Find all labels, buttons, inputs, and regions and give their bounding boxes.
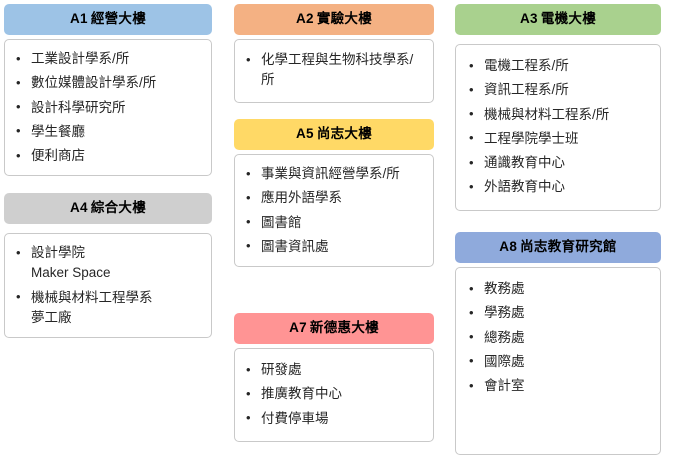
building-item-list-a3: 電機工程系/所 資訊工程系/所 機械與材料工程系/所 工程學院學士班 通識教育中… xyxy=(462,56,654,198)
list-item-label: 國際處 xyxy=(484,354,525,369)
list-item-label: 便利商店 xyxy=(31,148,85,163)
list-item[interactable]: 學務處 xyxy=(462,303,654,323)
building-header-a7: A7新德惠大樓 xyxy=(234,313,434,344)
building-card-a4[interactable]: A4綜合大樓 設計學院 Maker Space 機械與材料工程學系 夢工廠 xyxy=(4,193,212,338)
building-card-a8[interactable]: A8尚志教育研究館 教務處 學務處 總務處 國際處 會計室 xyxy=(455,232,661,455)
building-card-a7[interactable]: A7新德惠大樓 研發處 推廣教育中心 付費停車場 xyxy=(234,313,434,442)
list-item[interactable]: 設計學院 Maker Space xyxy=(9,243,203,284)
building-name-a7: 新德惠大樓 xyxy=(310,320,379,335)
list-item-label: 資訊工程系/所 xyxy=(484,82,569,97)
list-item[interactable]: 機械與材料工程學系 夢工廠 xyxy=(9,288,203,329)
building-item-list-a5: 事業與資訊經營學系/所 應用外語學系 圖書館 圖書資訊處 xyxy=(239,164,425,257)
list-item-label: 工程學院學士班 xyxy=(484,131,579,146)
building-body-a4: 設計學院 Maker Space 機械與材料工程學系 夢工廠 xyxy=(4,233,212,338)
building-body-a5: 事業與資訊經營學系/所 應用外語學系 圖書館 圖書資訊處 xyxy=(234,154,434,267)
building-body-a1: 工業設計學系/所 數位媒體設計學系/所 設計科學研究所 學生餐廳 便利商店 xyxy=(4,39,212,176)
list-item-label: 總務處 xyxy=(484,330,525,345)
building-body-a8: 教務處 學務處 總務處 國際處 會計室 xyxy=(455,267,661,455)
list-item-label: 教務處 xyxy=(484,281,525,296)
list-item[interactable]: 圖書館 xyxy=(239,213,425,233)
list-item[interactable]: 教務處 xyxy=(462,279,654,299)
list-item-label: 推廣教育中心 xyxy=(261,386,342,401)
building-item-list-a4: 設計學院 Maker Space 機械與材料工程學系 夢工廠 xyxy=(9,243,203,328)
list-item-label: 化學工程與生物科技學系/所 xyxy=(261,52,413,87)
list-item[interactable]: 研發處 xyxy=(239,360,425,380)
list-item-sublabel: 夢工廠 xyxy=(31,308,203,328)
building-item-list-a8: 教務處 學務處 總務處 國際處 會計室 xyxy=(462,279,654,396)
list-item-label: 工業設計學系/所 xyxy=(31,51,129,66)
list-item[interactable]: 資訊工程系/所 xyxy=(462,80,654,100)
building-name-a5: 尚志大樓 xyxy=(317,126,372,141)
building-header-a2: A2實驗大樓 xyxy=(234,4,434,35)
list-item-label: 通識教育中心 xyxy=(484,155,565,170)
list-item[interactable]: 事業與資訊經營學系/所 xyxy=(239,164,425,184)
building-name-a1: 經營大樓 xyxy=(91,11,146,26)
list-item-label: 設計學院 xyxy=(31,245,85,260)
building-code-a8: A8 xyxy=(499,239,517,254)
building-directory-canvas: A1經營大樓 工業設計學系/所 數位媒體設計學系/所 設計科學研究所 學生餐廳 … xyxy=(0,0,696,451)
list-item[interactable]: 數位媒體設計學系/所 xyxy=(9,73,203,93)
list-item-label: 會計室 xyxy=(484,378,525,393)
building-header-a4: A4綜合大樓 xyxy=(4,193,212,224)
list-item-label: 圖書館 xyxy=(261,215,302,230)
list-item[interactable]: 外語教育中心 xyxy=(462,177,654,197)
building-code-a4: A4 xyxy=(70,200,88,215)
building-name-a8: 尚志教育研究館 xyxy=(520,239,617,254)
building-code-a5: A5 xyxy=(296,126,314,141)
list-item-label: 付費停車場 xyxy=(261,411,329,426)
list-item[interactable]: 推廣教育中心 xyxy=(239,384,425,404)
list-item-label: 事業與資訊經營學系/所 xyxy=(261,166,400,181)
building-body-a3: 電機工程系/所 資訊工程系/所 機械與材料工程系/所 工程學院學士班 通識教育中… xyxy=(455,44,661,211)
list-item-label: 機械與材料工程學系 xyxy=(31,290,153,305)
list-item-label: 外語教育中心 xyxy=(484,179,565,194)
list-item-label: 應用外語學系 xyxy=(261,190,342,205)
list-item[interactable]: 總務處 xyxy=(462,328,654,348)
list-item-label: 機械與材料工程系/所 xyxy=(484,107,609,122)
list-item-label: 圖書資訊處 xyxy=(261,239,329,254)
building-header-a1: A1經營大樓 xyxy=(4,4,212,35)
list-item-label: 學務處 xyxy=(484,305,525,320)
building-card-a3[interactable]: A3電機大樓 電機工程系/所 資訊工程系/所 機械與材料工程系/所 工程學院學士… xyxy=(455,4,661,211)
building-header-a5: A5尚志大樓 xyxy=(234,119,434,150)
list-item[interactable]: 便利商店 xyxy=(9,146,203,166)
building-item-list-a7: 研發處 推廣教育中心 付費停車場 xyxy=(239,360,425,429)
building-name-a2: 實驗大樓 xyxy=(317,11,372,26)
list-item[interactable]: 學生餐廳 xyxy=(9,122,203,142)
list-item-sublabel: Maker Space xyxy=(31,263,203,283)
list-item[interactable]: 設計科學研究所 xyxy=(9,98,203,118)
list-item[interactable]: 化學工程與生物科技學系/所 xyxy=(239,50,423,91)
building-name-a4: 綜合大樓 xyxy=(91,200,146,215)
building-name-a3: 電機大樓 xyxy=(541,11,596,26)
list-item-label: 數位媒體設計學系/所 xyxy=(31,75,156,90)
list-item[interactable]: 會計室 xyxy=(462,376,654,396)
building-code-a2: A2 xyxy=(296,11,314,26)
building-code-a1: A1 xyxy=(70,11,88,26)
building-item-list-a1: 工業設計學系/所 數位媒體設計學系/所 設計科學研究所 學生餐廳 便利商店 xyxy=(9,49,203,166)
building-item-list-a2: 化學工程與生物科技學系/所 xyxy=(239,50,423,91)
building-code-a3: A3 xyxy=(520,11,538,26)
building-card-a1[interactable]: A1經營大樓 工業設計學系/所 數位媒體設計學系/所 設計科學研究所 學生餐廳 … xyxy=(4,4,212,176)
list-item-label: 學生餐廳 xyxy=(31,124,85,139)
building-body-a2: 化學工程與生物科技學系/所 xyxy=(234,39,434,103)
building-body-a7: 研發處 推廣教育中心 付費停車場 xyxy=(234,348,434,442)
list-item[interactable]: 應用外語學系 xyxy=(239,188,425,208)
building-card-a2[interactable]: A2實驗大樓 化學工程與生物科技學系/所 xyxy=(234,4,434,103)
list-item-label: 研發處 xyxy=(261,362,302,377)
list-item[interactable]: 付費停車場 xyxy=(239,409,425,429)
list-item[interactable]: 國際處 xyxy=(462,352,654,372)
list-item[interactable]: 機械與材料工程系/所 xyxy=(462,105,654,125)
list-item[interactable]: 圖書資訊處 xyxy=(239,237,425,257)
building-code-a7: A7 xyxy=(289,320,307,335)
list-item[interactable]: 工程學院學士班 xyxy=(462,129,654,149)
building-card-a5[interactable]: A5尚志大樓 事業與資訊經營學系/所 應用外語學系 圖書館 圖書資訊處 xyxy=(234,119,434,267)
list-item[interactable]: 工業設計學系/所 xyxy=(9,49,203,69)
list-item[interactable]: 通識教育中心 xyxy=(462,153,654,173)
building-header-a3: A3電機大樓 xyxy=(455,4,661,35)
list-item-label: 電機工程系/所 xyxy=(484,58,569,73)
list-item[interactable]: 電機工程系/所 xyxy=(462,56,654,76)
list-item-label: 設計科學研究所 xyxy=(31,100,126,115)
building-header-a8: A8尚志教育研究館 xyxy=(455,232,661,263)
